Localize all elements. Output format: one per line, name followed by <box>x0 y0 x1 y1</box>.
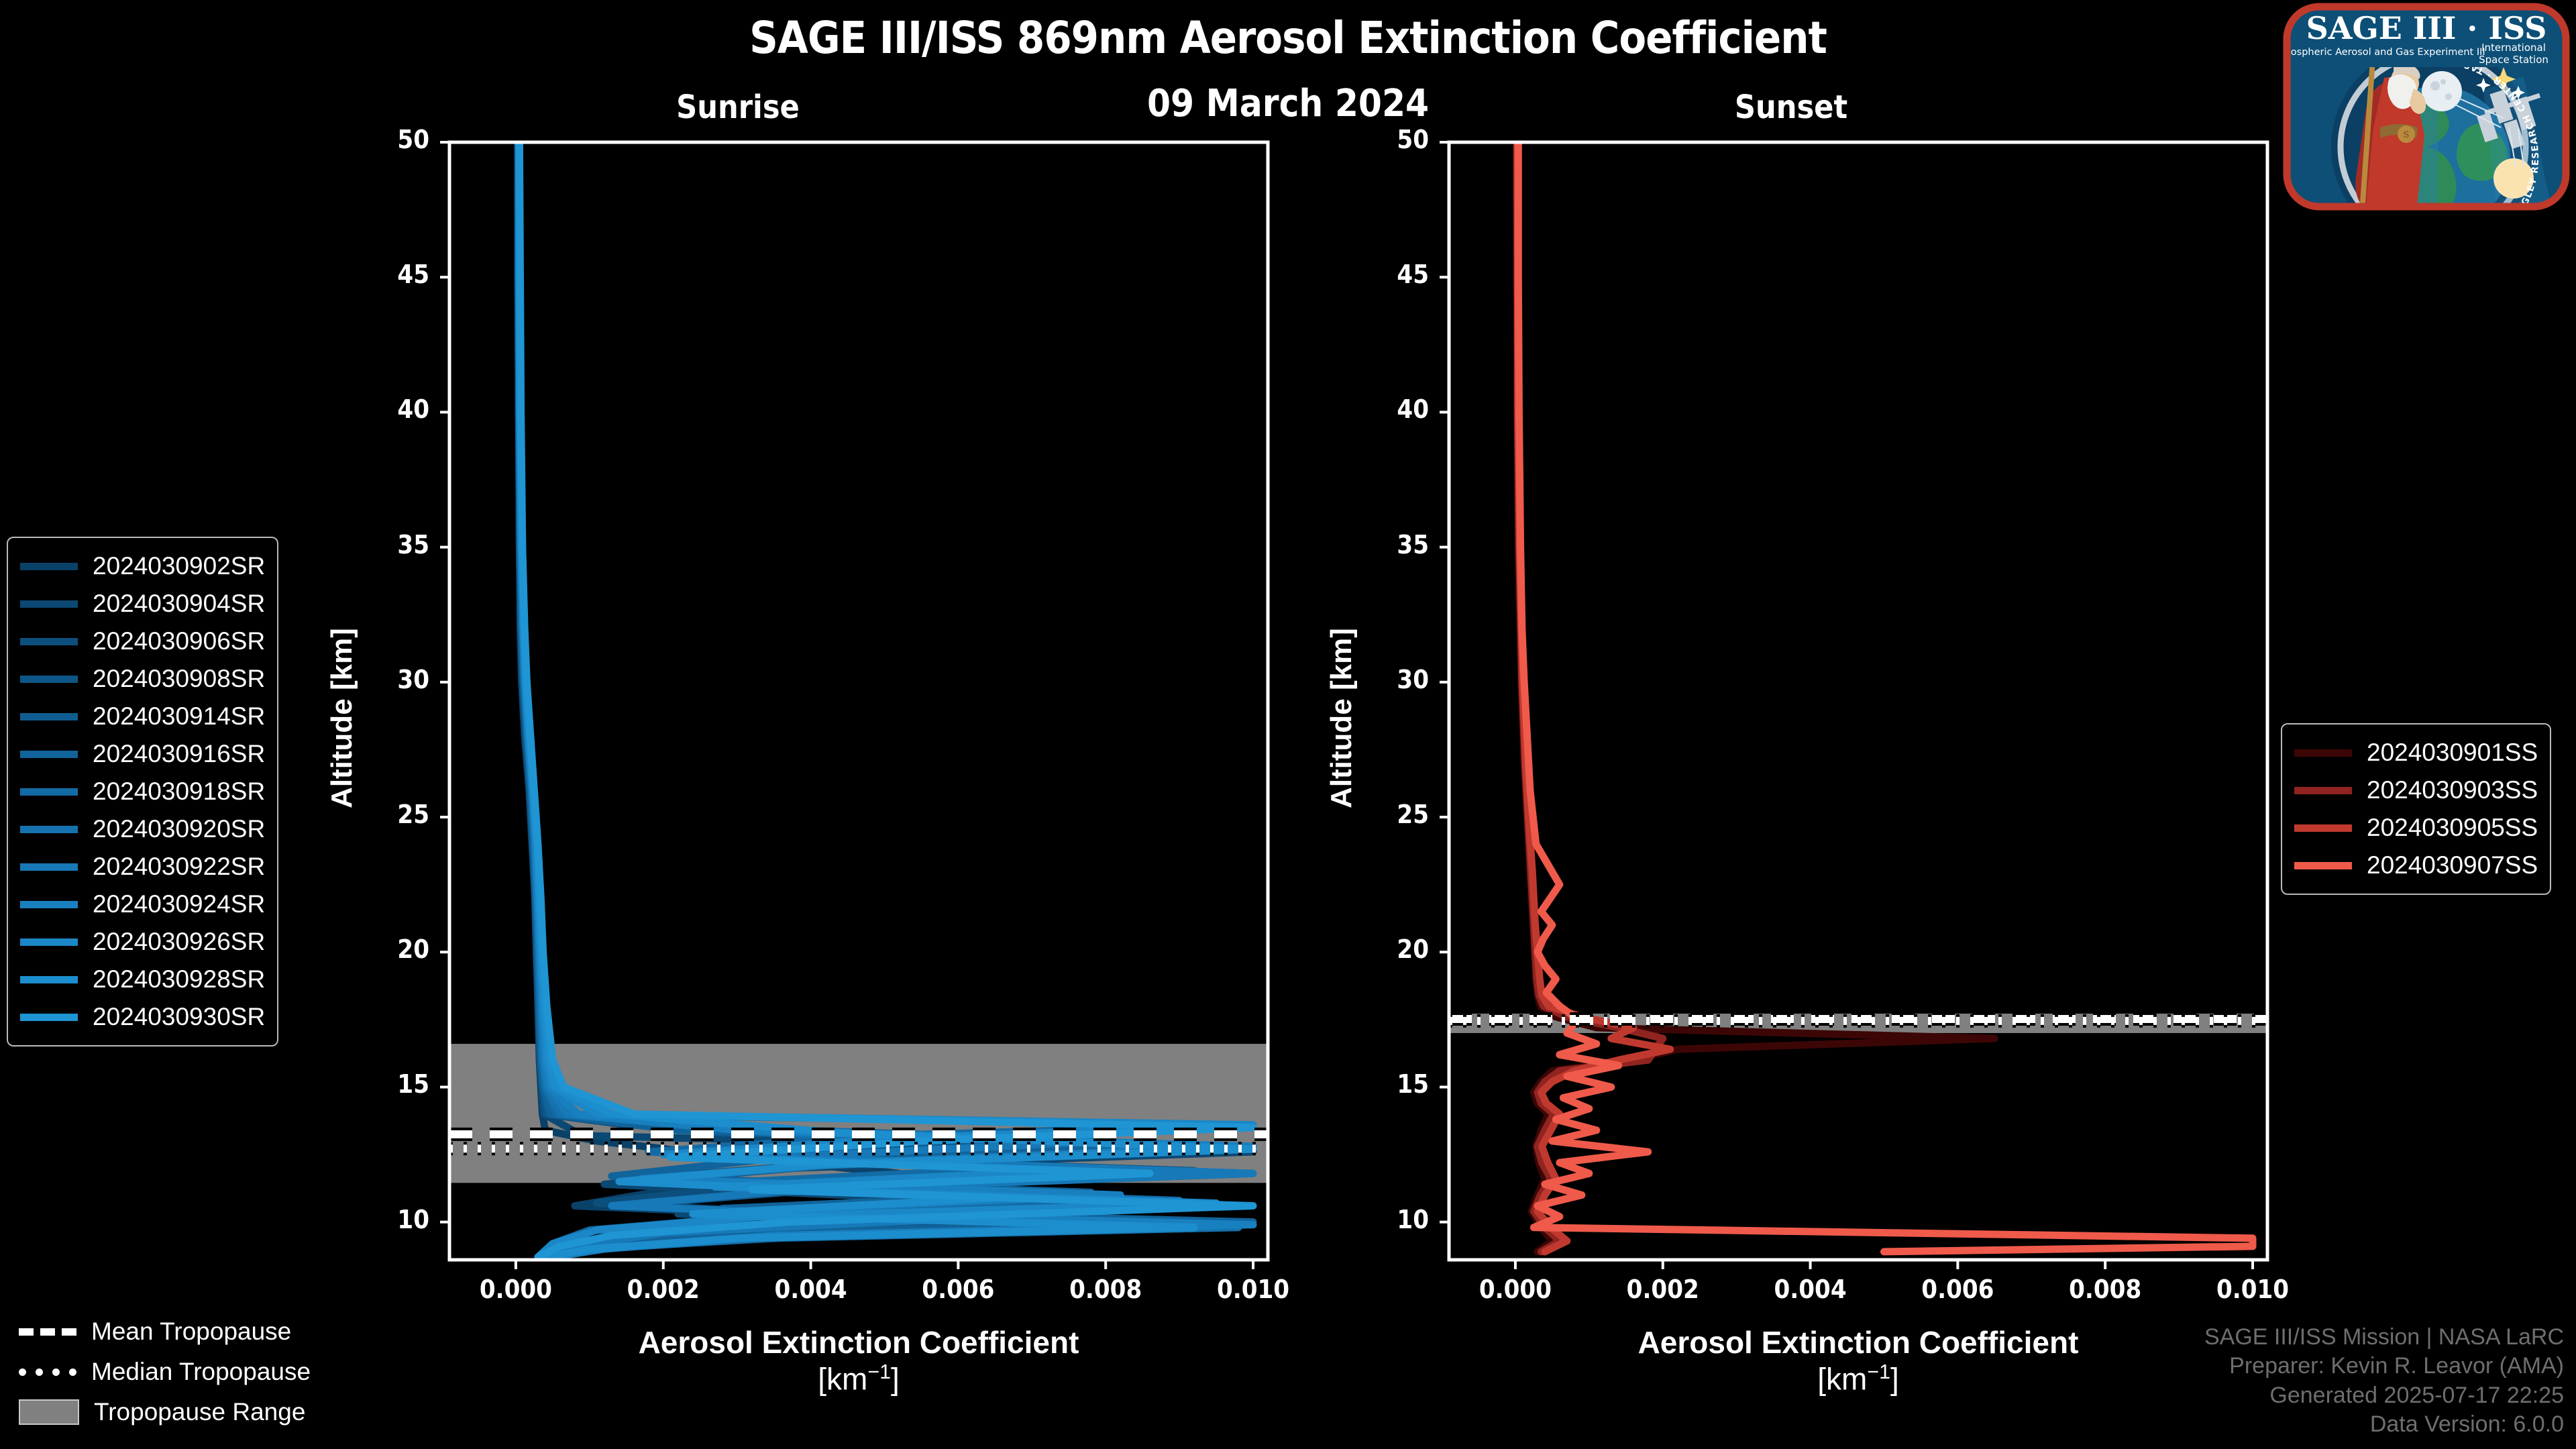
legend-color-swatch <box>20 863 78 871</box>
x-tick-label: 0.000 <box>1448 1275 1582 1304</box>
x-tick-label: 0.004 <box>744 1275 878 1304</box>
panel-sunrise <box>440 142 1268 1269</box>
legend-label: 2024030908SR <box>93 665 265 693</box>
x-tick-label: 0.000 <box>449 1275 583 1304</box>
legend-sunset-item[interactable]: 2024030907SS <box>2294 847 2538 884</box>
legend-color-swatch <box>20 563 78 570</box>
y-tick-label: 40 <box>349 394 429 424</box>
legend-color-swatch <box>20 788 78 796</box>
legend-tropopause-item: Mean Tropopause <box>19 1311 311 1352</box>
legend-sunrise-item[interactable]: 2024030916SR <box>20 735 265 773</box>
legend-sunrise-item[interactable]: 2024030902SR <box>20 547 265 585</box>
svg-text:S: S <box>2404 130 2410 140</box>
legend-sunset-item[interactable]: 2024030901SS <box>2294 734 2538 771</box>
legend-color-swatch <box>20 826 78 833</box>
legend-color-swatch <box>20 976 78 983</box>
legend-color-swatch <box>20 938 78 946</box>
legend-label: Mean Tropopause <box>91 1318 291 1346</box>
legend-sunrise-item[interactable]: 2024030906SR <box>20 623 265 660</box>
legend-label: 2024030904SR <box>93 590 265 618</box>
legend-label: 2024030924SR <box>93 890 265 918</box>
y-tick-label: 45 <box>349 260 429 289</box>
y-axis-title: Altitude [km] <box>325 628 359 808</box>
y-tick-label: 20 <box>349 934 429 964</box>
legend-color-swatch <box>20 600 78 608</box>
legend-label: 2024030922SR <box>93 853 265 881</box>
legend-label: 2024030920SR <box>93 815 265 843</box>
legend-sunrise-item[interactable]: 2024030904SR <box>20 585 265 623</box>
y-tick-label: 15 <box>1348 1069 1429 1099</box>
y-tick-label: 35 <box>1348 530 1429 559</box>
y-tick-label: 10 <box>349 1205 429 1234</box>
legend-tropopause-item: Median Tropopause <box>19 1352 311 1392</box>
y-axis-title: Altitude [km] <box>1325 628 1358 808</box>
x-tick-label: 0.006 <box>1890 1275 2025 1304</box>
legend-dashed-swatch <box>19 1328 76 1336</box>
legend-label: 2024030906SR <box>93 627 265 655</box>
legend-sunrise-item[interactable]: 2024030918SR <box>20 773 265 810</box>
legend-sunrise[interactable]: 2024030902SR2024030904SR2024030906SR2024… <box>7 537 278 1046</box>
legend-color-swatch <box>20 676 78 683</box>
credits-line: Data Version: 6.0.0 <box>2204 1410 2564 1440</box>
legend-sunrise-item[interactable]: 2024030908SR <box>20 660 265 698</box>
legend-label: 2024030902SR <box>93 552 265 580</box>
panel-sunset <box>1440 142 2267 1269</box>
legend-label: 2024030916SR <box>93 740 265 768</box>
legend-color-swatch <box>20 751 78 758</box>
legend-color-swatch <box>2294 824 2352 832</box>
x-tick-label: 0.008 <box>2038 1275 2172 1304</box>
x-axis-title-line2: [km−1] <box>356 1360 1362 1397</box>
x-tick-label: 0.010 <box>2186 1275 2320 1304</box>
legend-label: Tropopause Range <box>94 1398 305 1426</box>
y-tick-label: 30 <box>1348 665 1429 694</box>
legend-label: 2024030903SS <box>2367 776 2538 804</box>
legend-color-swatch <box>2294 787 2352 794</box>
y-tick-label: 20 <box>1348 934 1429 964</box>
x-tick-label: 0.002 <box>1596 1275 1730 1304</box>
legend-color-swatch <box>2294 862 2352 869</box>
legend-sunset[interactable]: 2024030901SS2024030903SS2024030905SS2024… <box>2281 723 2551 895</box>
y-tick-label: 45 <box>1348 260 1429 289</box>
y-tick-label: 40 <box>1348 394 1429 424</box>
y-tick-label: 10 <box>1348 1205 1429 1234</box>
sage-iii-iss-logo: S BALL · NASA LANGLEY RESEARCH CENTER · … <box>2282 3 2571 211</box>
legend-sunrise-item[interactable]: 2024030920SR <box>20 810 265 848</box>
legend-sunrise-item[interactable]: 2024030930SR <box>20 998 265 1036</box>
y-tick-label: 50 <box>1348 125 1429 154</box>
legend-sunrise-item[interactable]: 2024030924SR <box>20 885 265 923</box>
y-tick-label: 50 <box>349 125 429 154</box>
legend-dotted-swatch <box>19 1368 76 1376</box>
legend-patch-swatch <box>19 1399 79 1425</box>
logo-subtitle-right-1: International <box>2481 42 2546 54</box>
legend-label: Median Tropopause <box>91 1358 311 1386</box>
legend-color-swatch <box>20 901 78 908</box>
legend-tropopause: Mean TropopauseMedian TropopauseTropopau… <box>19 1311 311 1432</box>
legend-label: 2024030926SR <box>93 928 265 956</box>
y-tick-label: 15 <box>349 1069 429 1099</box>
legend-color-swatch <box>20 638 78 645</box>
legend-label: 2024030914SR <box>93 702 265 731</box>
legend-label: 2024030901SS <box>2367 739 2538 767</box>
y-tick-label: 25 <box>1348 800 1429 829</box>
credits-line: SAGE III/ISS Mission | NASA LaRC <box>2204 1323 2564 1352</box>
legend-sunset-item[interactable]: 2024030905SS <box>2294 809 2538 847</box>
x-tick-label: 0.006 <box>891 1275 1025 1304</box>
legend-tropopause-item: Tropopause Range <box>19 1392 311 1432</box>
y-tick-label: 30 <box>349 665 429 694</box>
credits-line: Generated 2025-07-17 22:25 <box>2204 1381 2564 1411</box>
legend-sunrise-item[interactable]: 2024030928SR <box>20 961 265 998</box>
x-tick-label: 0.002 <box>596 1275 731 1304</box>
legend-label: 2024030907SS <box>2367 851 2538 879</box>
legend-label: 2024030928SR <box>93 965 265 994</box>
legend-sunrise-item[interactable]: 2024030926SR <box>20 923 265 961</box>
legend-color-swatch <box>20 713 78 720</box>
x-tick-label: 0.010 <box>1186 1275 1320 1304</box>
y-tick-label: 35 <box>349 530 429 559</box>
x-tick-label: 0.008 <box>1038 1275 1173 1304</box>
y-tick-label: 25 <box>349 800 429 829</box>
x-axis-title-line1: Aerosol Extinction Coefficient <box>356 1324 1362 1360</box>
legend-sunrise-item[interactable]: 2024030914SR <box>20 698 265 735</box>
x-tick-label: 0.004 <box>1743 1275 1878 1304</box>
legend-label: 2024030930SR <box>93 1003 265 1031</box>
credits-block: SAGE III/ISS Mission | NASA LaRCPreparer… <box>2204 1323 2564 1440</box>
logo-title: SAGE III · ISS <box>2306 10 2547 46</box>
x-axis-title: Aerosol Extinction Coefficient[km−1] <box>356 1324 1362 1397</box>
logo-subtitle-right-2: Space Station <box>2479 54 2548 66</box>
legend-sunset-item[interactable]: 2024030903SS <box>2294 771 2538 809</box>
legend-color-swatch <box>20 1014 78 1021</box>
credits-line: Preparer: Kevin R. Leavor (AMA) <box>2204 1352 2564 1381</box>
legend-label: 2024030918SR <box>93 777 265 806</box>
legend-sunrise-item[interactable]: 2024030922SR <box>20 848 265 885</box>
logo-subtitle-left: Stratospheric Aerosol and Gas Experiment… <box>2282 47 2485 58</box>
legend-label: 2024030905SS <box>2367 814 2538 842</box>
legend-color-swatch <box>2294 749 2352 757</box>
